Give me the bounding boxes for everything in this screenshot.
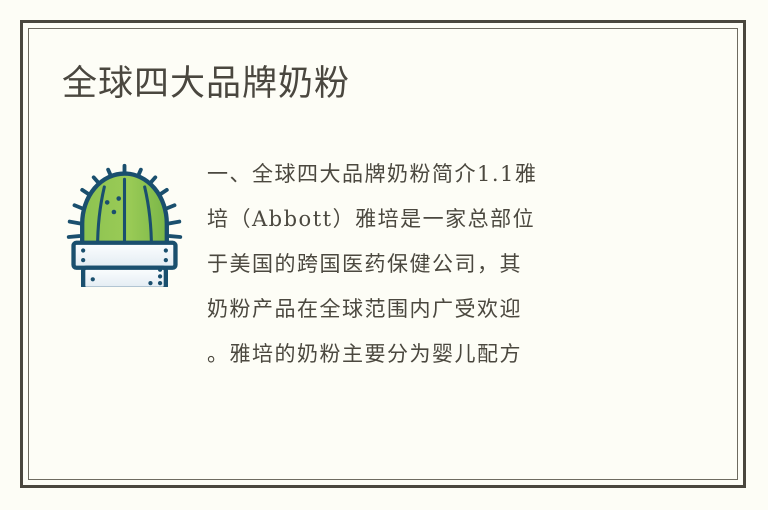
article-line: 培（Abbott）雅培是一家总部位 bbox=[207, 197, 692, 242]
pot-rim bbox=[74, 243, 176, 268]
article-line: 。雅培的奶粉主要分为婴儿配方 bbox=[207, 332, 692, 377]
page-title: 全球四大品牌奶粉 bbox=[62, 62, 350, 106]
article-line: 一、全球四大品牌奶粉简介1.1雅 bbox=[207, 152, 692, 197]
page-root: 全球四大品牌奶粉 bbox=[0, 0, 768, 510]
pot-body bbox=[83, 268, 166, 287]
illustration-container bbox=[62, 152, 192, 287]
article-line: 奶粉产品在全球范围内广受欢迎 bbox=[207, 287, 692, 332]
article-body: 一、全球四大品牌奶粉简介1.1雅 培（Abbott）雅培是一家总部位 于美国的跨… bbox=[192, 152, 692, 377]
article-line: 于美国的跨国医药保健公司，其 bbox=[207, 242, 692, 287]
content-row: 一、全球四大品牌奶粉简介1.1雅 培（Abbott）雅培是一家总部位 于美国的跨… bbox=[62, 152, 692, 377]
cactus-icon bbox=[62, 162, 187, 287]
